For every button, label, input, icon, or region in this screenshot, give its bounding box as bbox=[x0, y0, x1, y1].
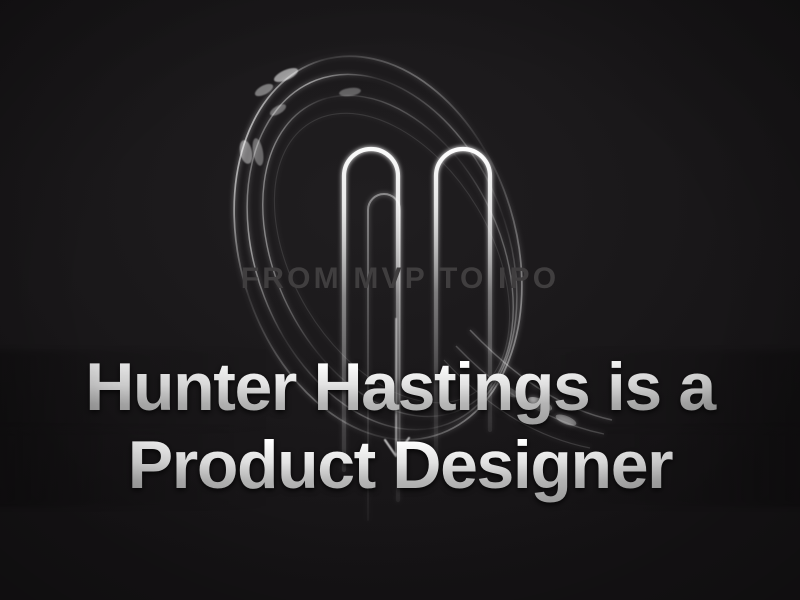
ring-highlight-left-2 bbox=[251, 137, 266, 166]
hero-headline-line-2: Product Designer bbox=[0, 427, 800, 505]
ring-highlight-top bbox=[272, 65, 300, 85]
hero-eyebrow-wrap: FROM MVP TO IPO bbox=[0, 264, 800, 294]
hero-headline-line-1: Hunter Hastings is a bbox=[0, 349, 800, 427]
ring-highlight-mid bbox=[268, 102, 288, 118]
ring-highlight-left bbox=[238, 139, 255, 165]
hero-eyebrow: FROM MVP TO IPO bbox=[241, 264, 560, 294]
ring-highlight-upper bbox=[253, 81, 275, 98]
ring-highlight-right bbox=[339, 87, 362, 98]
abstract-paperclip-orbit-graphic bbox=[0, 0, 800, 600]
vignette-overlay bbox=[0, 0, 800, 600]
hero-headline: Hunter Hastings is a Product Designer bbox=[0, 349, 800, 504]
ring-highlights bbox=[238, 65, 362, 167]
hero-banner: FROM MVP TO IPO Hunter Hastings is a Pro… bbox=[0, 0, 800, 600]
